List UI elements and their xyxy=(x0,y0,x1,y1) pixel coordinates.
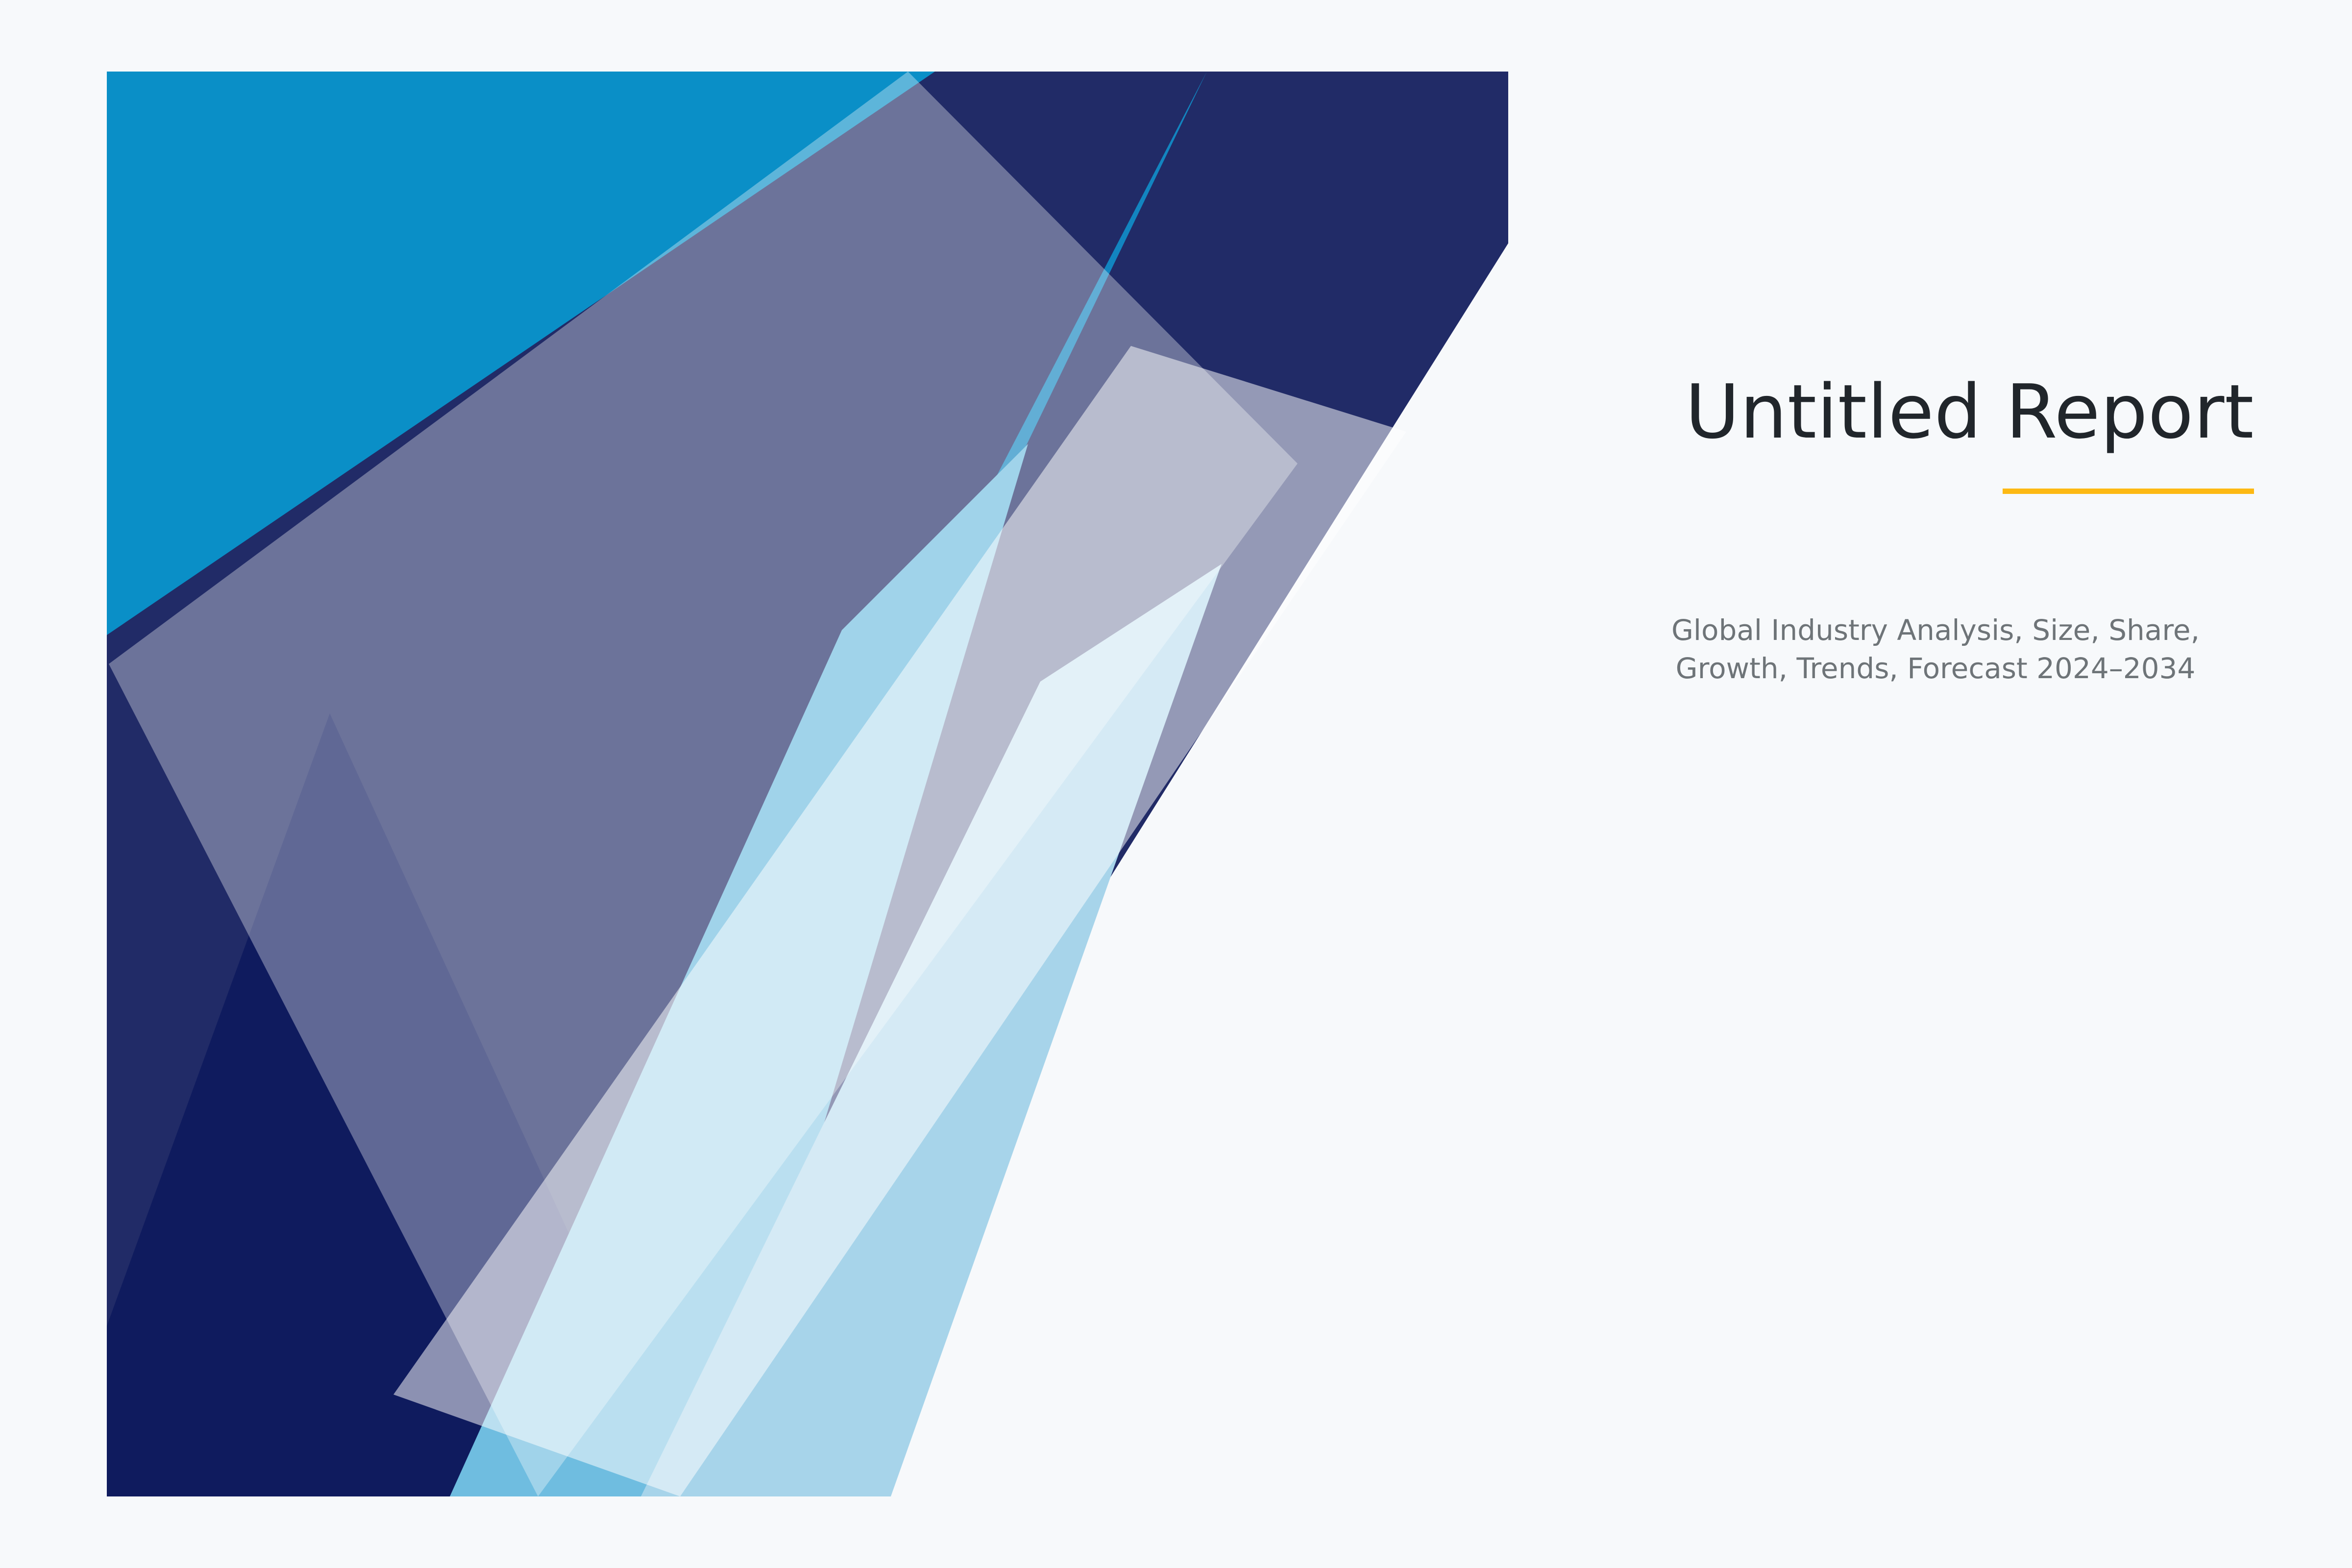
report-cover-page: Untitled Report Global Industry Analysis… xyxy=(0,0,2352,1568)
page-title: Untitled Report xyxy=(1583,372,2254,451)
cover-text-column: Untitled Report Global Industry Analysis… xyxy=(1583,372,2254,688)
title-accent-rule xyxy=(2003,489,2254,494)
abstract-geometric-cover-graphic xyxy=(107,72,1508,1496)
report-subtitle: Global Industry Analysis, Size, Share, G… xyxy=(1617,612,2254,687)
artwork-svg xyxy=(107,72,1508,1496)
